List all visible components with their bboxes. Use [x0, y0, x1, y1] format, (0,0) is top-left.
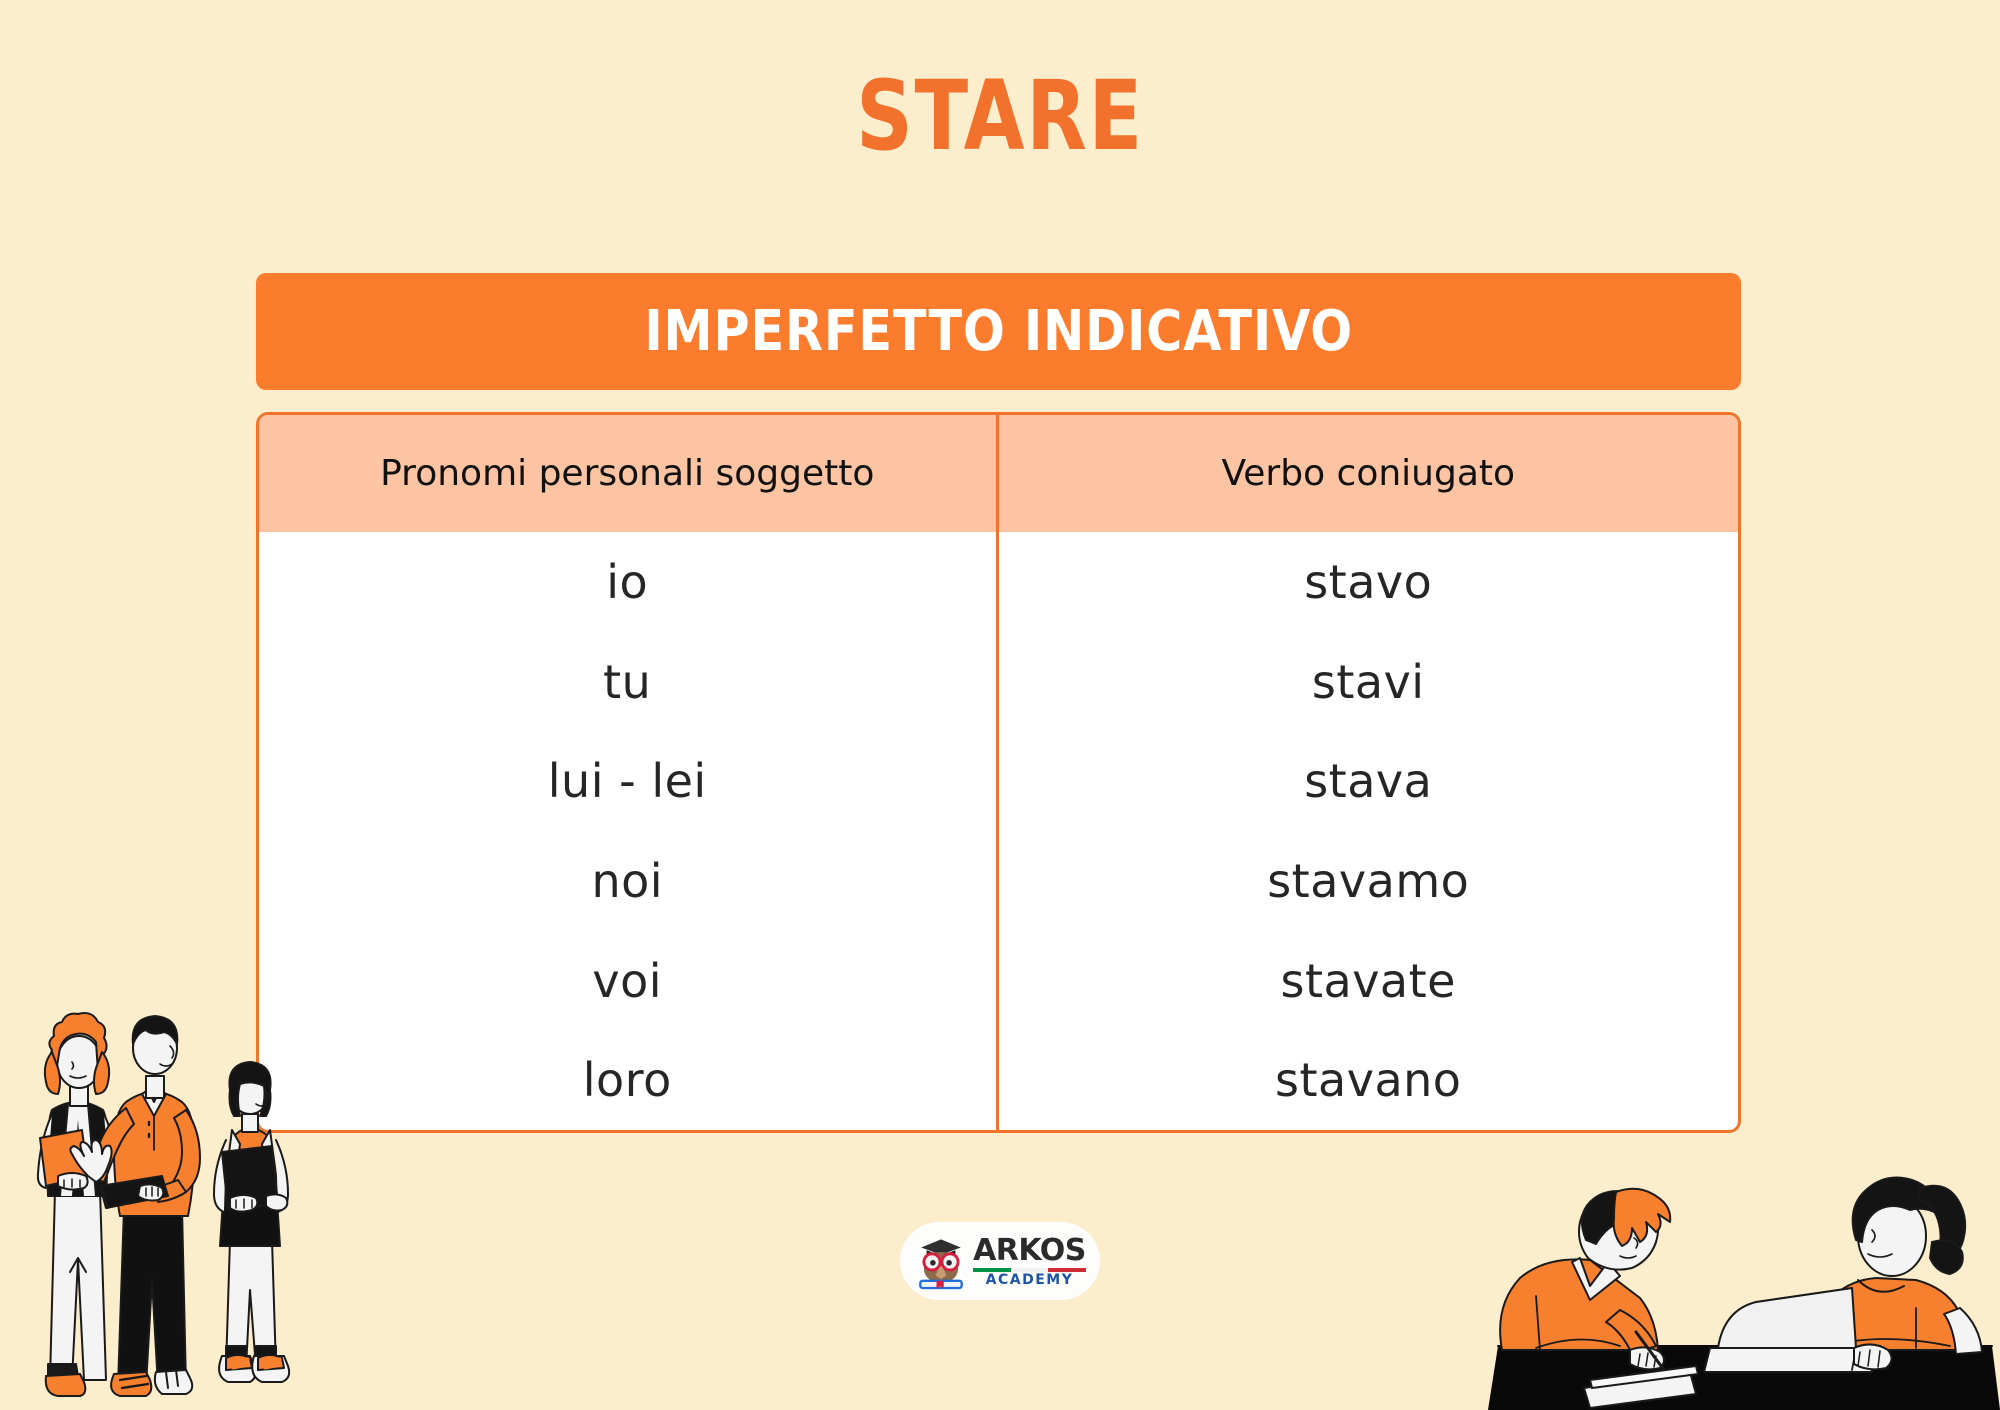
verb-form-cell: stavi [999, 632, 1739, 732]
tense-header-label: IMPERFETTO INDICATIVO [644, 299, 1353, 364]
table-body: io tu lui - lei noi voi loro stavo stavi… [259, 532, 1738, 1130]
verb-form-cell: stavate [999, 931, 1739, 1031]
logo-wordmark: ARKOS ACADEMY [973, 1236, 1086, 1287]
owl-graduate-icon [914, 1232, 968, 1290]
pronoun-cell: loro [259, 1030, 996, 1130]
italian-flag-icon [973, 1268, 1086, 1272]
verb-form-cell: stavo [999, 532, 1739, 632]
two-seated-students-desk-illustration [1480, 1110, 2000, 1410]
pronoun-cell: io [259, 532, 996, 632]
pronoun-cell: tu [259, 632, 996, 732]
brand-logo: ARKOS ACADEMY [900, 1222, 1100, 1300]
verb-form-cell: stavamo [999, 831, 1739, 931]
conjugation-card: IMPERFETTO INDICATIVO Pronomi personali … [256, 273, 1741, 1133]
table-header-row: Pronomi personali soggetto Verbo coniuga… [259, 415, 1738, 532]
table-header-cell-verb: Verbo coniugato [999, 415, 1739, 532]
pronoun-column: io tu lui - lei noi voi loro [259, 532, 999, 1130]
logo-subtitle: ACADEMY [986, 1273, 1074, 1287]
conjugation-table: Pronomi personali soggetto Verbo coniuga… [256, 412, 1741, 1133]
pronoun-cell: noi [259, 831, 996, 931]
page-title: STARE [180, 60, 1820, 172]
column-header-pronouns-label: Pronomi personali soggetto [259, 415, 996, 532]
column-header-verb-label: Verbo coniugato [999, 415, 1739, 532]
table-header-cell-pronouns: Pronomi personali soggetto [259, 415, 999, 532]
pronoun-cell: voi [259, 931, 996, 1031]
logo-name: ARKOS [973, 1236, 1086, 1266]
verb-form-cell: stava [999, 731, 1739, 831]
verb-form-column: stavo stavi stava stavamo stavate stavan… [999, 532, 1739, 1130]
three-standing-students-illustration [0, 990, 340, 1410]
tense-header-bar: IMPERFETTO INDICATIVO [256, 273, 1741, 390]
pronoun-cell: lui - lei [259, 731, 996, 831]
